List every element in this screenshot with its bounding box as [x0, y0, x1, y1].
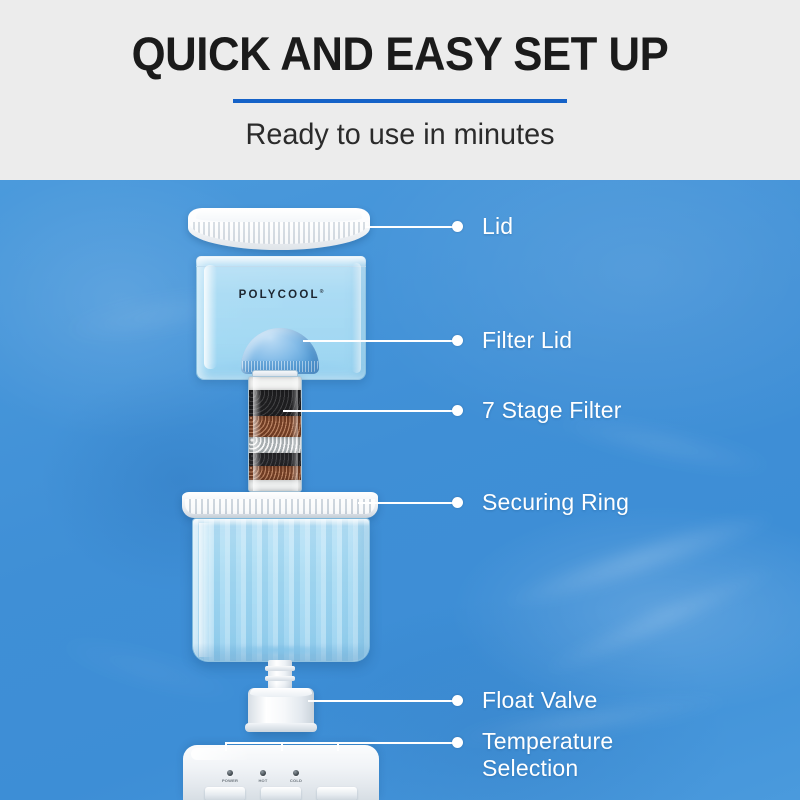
callout-label-seven-stage-filter: 7 Stage Filter	[482, 397, 622, 424]
outlet-neck-band	[265, 666, 295, 671]
callout-leader-lid	[365, 226, 460, 228]
filter-highlight	[253, 377, 261, 491]
lower-tank-part	[192, 518, 370, 662]
lid-ribbed-edge	[190, 222, 368, 244]
callout-leader-float-valve	[308, 700, 460, 702]
callout-dot-float-valve	[452, 695, 463, 706]
tap-lever-cold[interactable]	[317, 787, 357, 800]
upper-tank-edge-highlight	[352, 263, 361, 373]
lid-part	[188, 208, 370, 250]
lower-tank-flutes	[193, 519, 369, 661]
page-title: QUICK AND EASY SET UP	[28, 26, 772, 81]
led-hot-indicator	[260, 770, 266, 776]
led-hot-label: HOT	[248, 778, 278, 783]
callout-label-temperature-selection: Temperature Selection	[482, 728, 613, 782]
float-valve-lip	[245, 723, 317, 732]
callout-bracket-mid-tick	[281, 742, 283, 751]
brand-logo: POLYCOOL®	[197, 289, 365, 301]
callout-label-lid: Lid	[482, 213, 513, 240]
title-divider	[233, 99, 567, 103]
led-power-label: POWER	[215, 778, 245, 783]
callout-label-filter-lid: Filter Lid	[482, 327, 572, 354]
upper-tank-rim	[196, 256, 366, 267]
lid-top-surface	[196, 209, 362, 222]
infographic-page: QUICK AND EASY SET UP Ready to use in mi…	[0, 0, 800, 800]
callout-label-securing-ring: Securing Ring	[482, 489, 629, 516]
lower-tank-highlight	[199, 523, 214, 657]
callout-dot-securing-ring	[452, 497, 463, 508]
callout-leader-seven-stage-filter	[283, 410, 460, 412]
registered-mark-icon: ®	[320, 289, 324, 295]
callout-dot-filter-lid	[452, 335, 463, 346]
seven-stage-filter-part	[248, 376, 302, 492]
led-cold-indicator	[293, 770, 299, 776]
filter-edge-highlight	[291, 377, 298, 491]
callout-leader-temperature-selection	[335, 742, 460, 744]
securing-ring-ribs	[185, 499, 375, 514]
led-power-indicator	[227, 770, 233, 776]
lower-tank-rim	[193, 519, 369, 526]
outlet-neck	[268, 660, 292, 690]
tap-lever-power[interactable]	[205, 787, 245, 800]
page-subtitle: Ready to use in minutes	[16, 118, 784, 152]
callout-label-float-valve: Float Valve	[482, 687, 598, 714]
lower-tank-base-dip	[211, 643, 351, 657]
float-valve-top	[250, 688, 312, 697]
dispenser-base-unit: POWER HOT COLD	[183, 745, 379, 800]
outlet-neck-band	[265, 676, 295, 681]
brand-text: POLYCOOL	[239, 289, 320, 301]
callout-leader-securing-ring	[358, 502, 460, 504]
float-valve-part	[248, 688, 314, 732]
callout-leader-filter-lid	[303, 340, 460, 342]
tap-lever-hot[interactable]	[261, 787, 301, 800]
callout-dot-seven-stage-filter	[452, 405, 463, 416]
callout-dot-lid	[452, 221, 463, 232]
securing-ring-part	[182, 492, 378, 518]
led-cold-label: COLD	[281, 778, 311, 783]
product-exploded-view: POLYCOOL®	[0, 180, 800, 800]
callout-dot-temperature-selection	[452, 737, 463, 748]
upper-tank-highlight	[204, 265, 217, 369]
callout-bracket-left-tick	[225, 742, 227, 751]
water-background: POLYCOOL®	[0, 180, 800, 800]
header-banner: QUICK AND EASY SET UP Ready to use in mi…	[0, 0, 800, 180]
